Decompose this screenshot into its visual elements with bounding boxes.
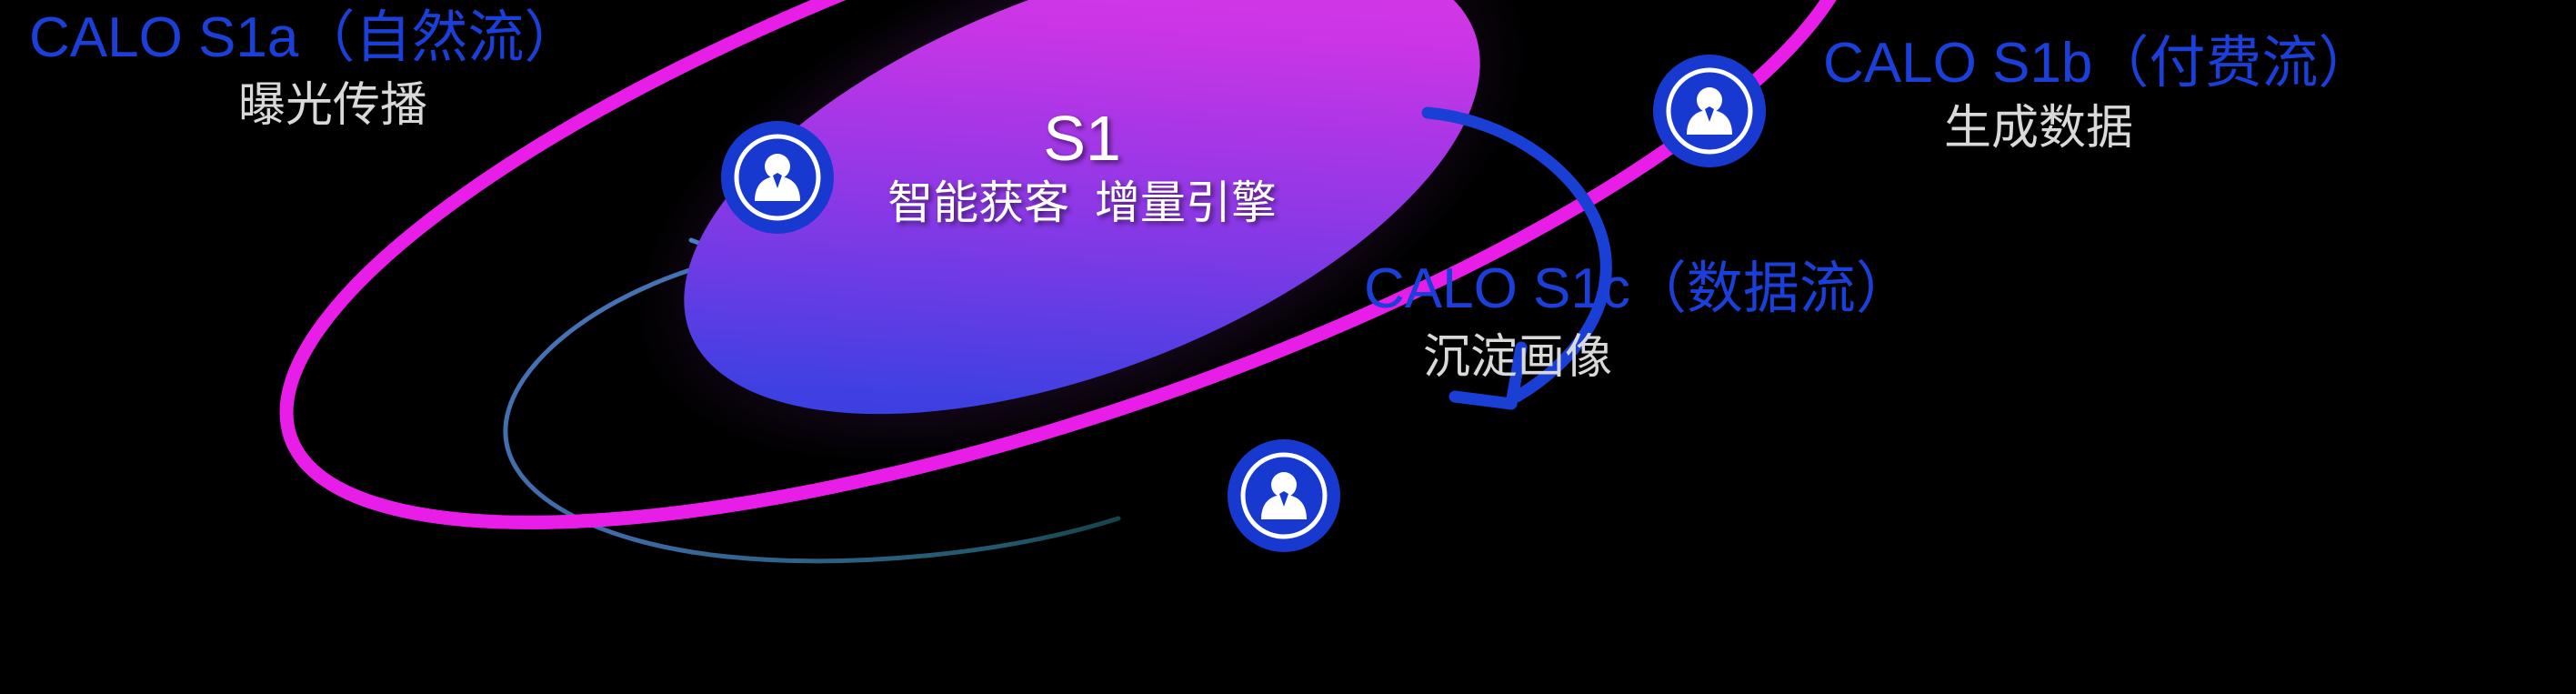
label-s1a-role: 曝光传播 <box>238 79 427 132</box>
node-s1c[interactable] <box>1228 439 1340 552</box>
node-s1b[interactable] <box>1653 55 1766 167</box>
label-s1b-flow: CALO S1b（付费流） <box>1823 32 2374 95</box>
node-s1a[interactable] <box>721 121 834 234</box>
calo-s1-orbit-diagram: S1 智能获客 增量引擎 <box>0 0 2576 694</box>
label-s1a-flow: CALO S1a（自然流） <box>29 6 580 69</box>
label-s1b-role: 生成数据 <box>1944 102 2133 155</box>
core-subtitle: 智能获客 增量引擎 <box>887 177 1277 228</box>
diagram-canvas: S1 智能获客 增量引擎 <box>0 0 2576 694</box>
label-s1c-role: 沉淀画像 <box>1423 331 1612 384</box>
core-title: S1 <box>1043 103 1121 174</box>
label-s1c-flow: CALO S1c（数据流） <box>1364 257 1912 320</box>
